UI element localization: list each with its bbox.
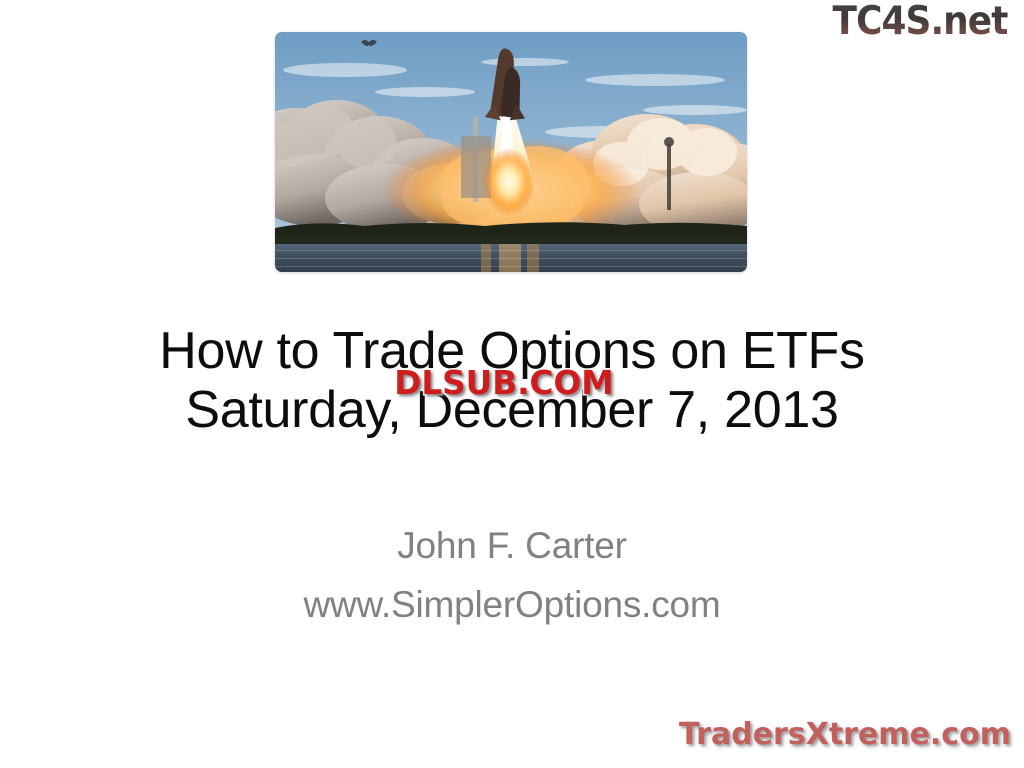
presenter-website: www.SimplerOptions.com [0, 575, 1024, 634]
launch-illustration [275, 32, 747, 272]
presenter-info: John F. Carter www.SimplerOptions.com [0, 516, 1024, 634]
dlsub-watermark: DLSUB.COM [365, 362, 642, 404]
tc4s-site-logo: TC4S.net [824, 0, 1015, 44]
presentation-slide: TC4S.net [0, 0, 1024, 768]
tradersxtreme-logo: TradersXtreme.com [672, 714, 1018, 756]
presenter-name: John F. Carter [0, 516, 1024, 575]
space-shuttle-launch-photo [275, 32, 747, 272]
